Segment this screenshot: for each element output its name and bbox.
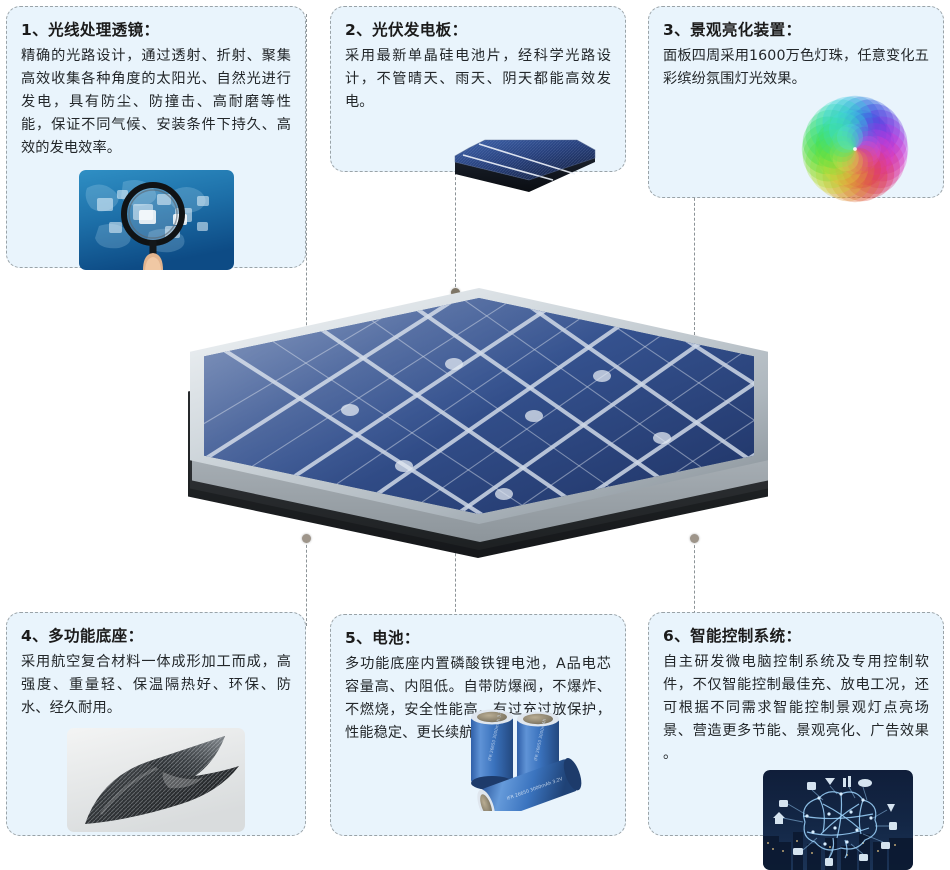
feature-card-4-title: 4、多功能底座： <box>21 625 291 648</box>
feature-card-1-title: 1、光线处理透镜： <box>21 19 291 42</box>
feature-card-5-title: 5、电池： <box>345 627 611 650</box>
feature-card-6-title: 6、智能控制系统： <box>663 625 929 648</box>
feature-card-2: 2、光伏发电板： 采用最新单晶硅电池片，经科学光路设计，不管晴天、雨天、阴天都能… <box>330 6 626 172</box>
infographic-stage: 1、光线处理透镜： 精确的光路设计，通过透射、折射、聚集高效收集各种角度的太阳光… <box>0 0 950 842</box>
feature-card-3-title: 3、景观亮化装置： <box>663 19 929 42</box>
feature-card-1: 1、光线处理透镜： 精确的光路设计，通过透射、折射、聚集高效收集各种角度的太阳光… <box>6 6 306 268</box>
feature-card-5: 5、电池： 多功能底座内置磷酸铁锂电池，A品电芯容量高、内阻低。自带防爆阀，不爆… <box>330 614 626 836</box>
feature-card-6-body: 自主研发微电脑控制系统及专用控制软件，不仅智能控制最佳充、放电工况，还可根据不同… <box>663 651 929 766</box>
monocrystalline-solar-cell-image <box>445 118 605 198</box>
hexagonal-solar-panel-3d <box>168 252 788 572</box>
feature-card-3: 3、景观亮化装置： 面板四周采用1600万色灯珠，任意变化五彩缤纷氛围灯光效果。 <box>648 6 944 198</box>
feature-card-2-title: 2、光伏发电板： <box>345 19 611 42</box>
feature-card-6: 6、智能控制系统： 自主研发微电脑控制系统及专用控制软件，不仅智能控制最佳充、放… <box>648 612 944 836</box>
ai-brain-smart-city-network-image <box>763 770 913 870</box>
feature-card-3-body: 面板四周采用1600万色灯珠，任意变化五彩缤纷氛围灯光效果。 <box>663 45 929 91</box>
feature-card-2-body: 采用最新单晶硅电池片，经科学光路设计，不管晴天、雨天、阴天都能高效发电。 <box>345 45 611 114</box>
color-wheel-rosette-image <box>795 93 915 205</box>
lithium-iron-phosphate-cells-image: IFR 26650 3000mAh 3.2V IFR 26650 3000mAh <box>453 703 605 811</box>
feature-card-1-body: 精确的光路设计，通过透射、折射、聚集高效收集各种角度的太阳光、自然光进行发电，具… <box>21 45 291 160</box>
magnifier-over-digital-world-map-image <box>79 170 234 270</box>
feature-card-4-body: 采用航空复合材料一体成形加工而成，高强度、重量轻、保温隔热好、环保、防水、经久耐… <box>21 651 291 720</box>
carbon-fiber-composite-sheet-image <box>67 728 245 832</box>
feature-card-4: 4、多功能底座： 采用航空复合材料一体成形加工而成，高强度、重量轻、保温隔热好、… <box>6 612 306 836</box>
